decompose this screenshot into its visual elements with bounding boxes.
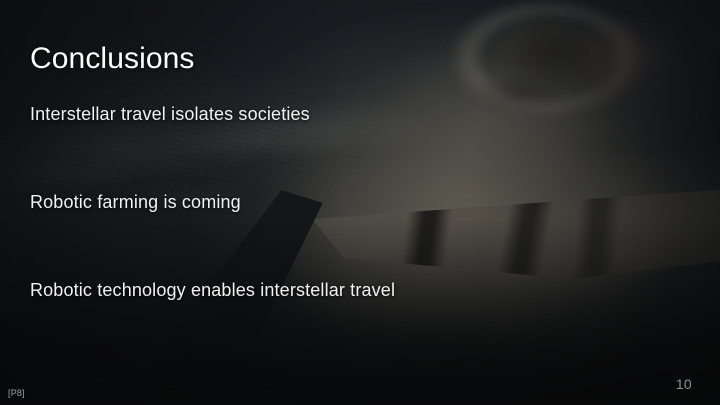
slide-title: Conclusions: [30, 42, 195, 76]
bullet-line-3: Robotic technology enables interstellar …: [30, 279, 395, 301]
slide-page-number: 10: [676, 376, 692, 393]
presentation-slide: Conclusions Interstellar travel isolates…: [0, 0, 720, 405]
background-wing-panel-lines: [250, 186, 720, 336]
bullet-line-2: Robotic farming is coming: [30, 191, 241, 213]
slide-reference-marker: [P8]: [8, 388, 25, 399]
bullet-line-1: Interstellar travel isolates societies: [30, 103, 310, 125]
